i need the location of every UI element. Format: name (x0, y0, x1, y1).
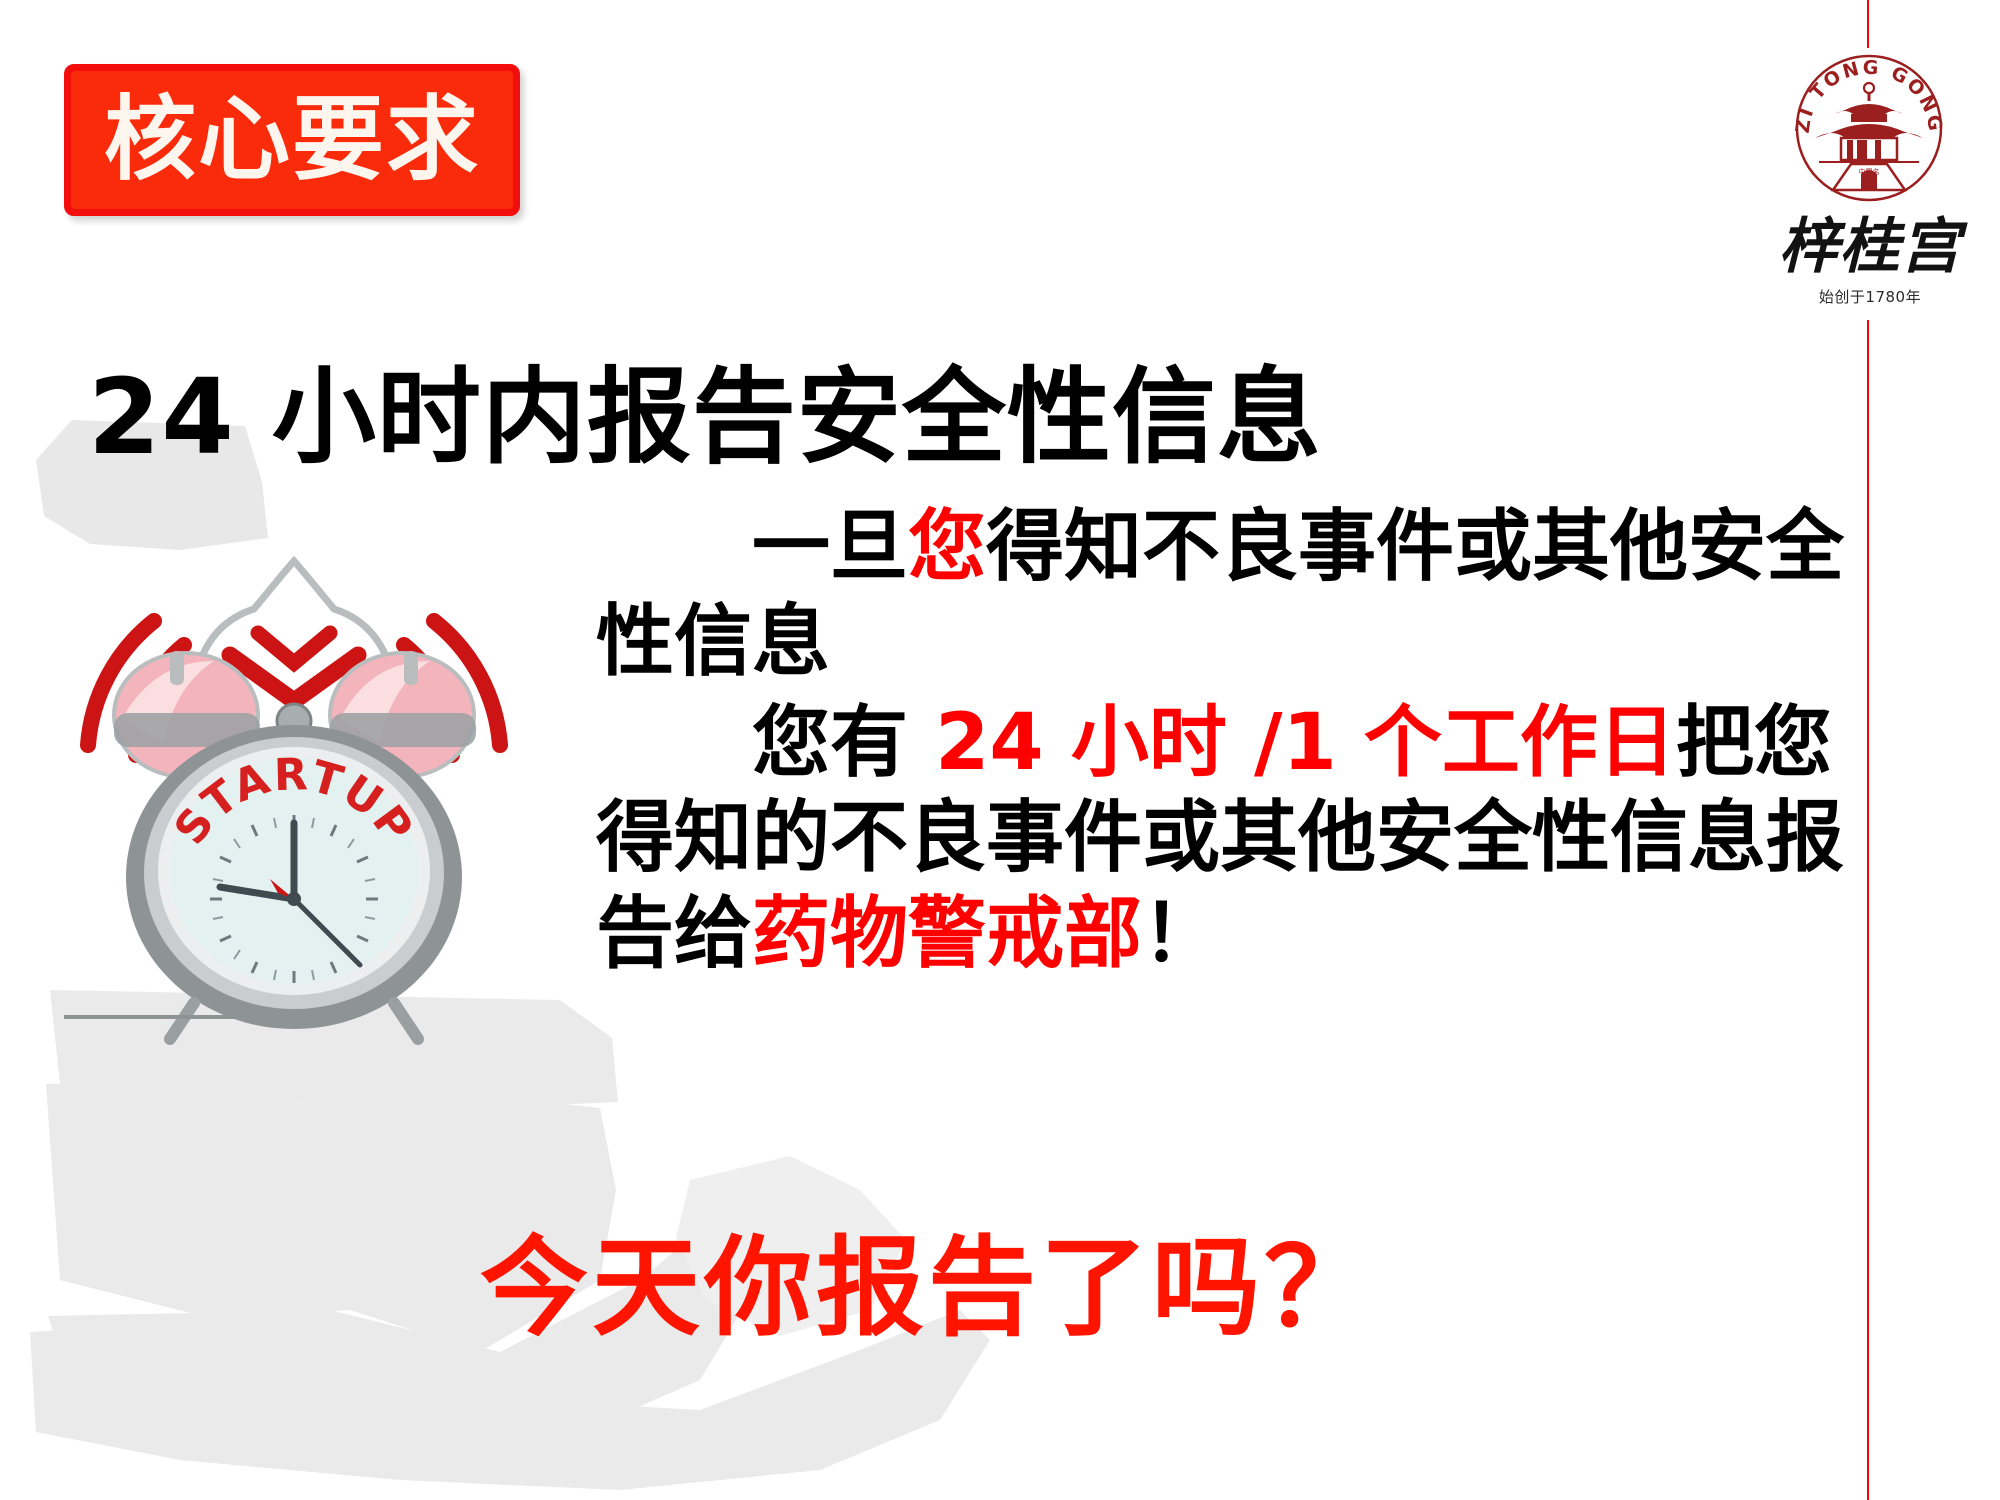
body-paragraph-2: 您有 24 小时 /1 个工作日把您得知的不良事件或其他安全性信息报告给药物警戒… (596, 696, 1856, 981)
page-title: 24 小时内报告安全性信息 (88, 360, 1488, 474)
seal-inner-label: 中国名 (1859, 167, 1880, 176)
body-copy: 一旦您得知不良事件或其他安全性信息 您有 24 小时 /1 个工作日把您得知的不… (596, 500, 1856, 982)
p1-highlight-you: 您 (908, 502, 986, 592)
right-vertical-rule-bottom (1867, 320, 1869, 1500)
alarm-clock-icon: STARTUP (44, 505, 544, 1045)
logo-wordmark: 梓桂宫 (1775, 210, 1965, 284)
closing-question: 今天你报告了吗？ (480, 1230, 1580, 1349)
logo-founded-year: 始创于1780年 (1775, 286, 1965, 307)
p1-seg1: 一旦 (752, 502, 908, 592)
p2-seg5: ！ (1142, 889, 1220, 979)
company-logo: ZI TONG GONG 中国名 梓桂宫 始创于1780年 (1775, 48, 1965, 316)
p2-seg1: 您有 (752, 698, 935, 788)
pagoda-seal-icon: ZI TONG GONG 中国名 (1789, 48, 1949, 208)
body-paragraph-1: 一旦您得知不良事件或其他安全性信息 (596, 500, 1856, 690)
section-title-label: 核心要求 (104, 94, 480, 186)
p2-highlight-department: 药物警戒部 (752, 889, 1142, 979)
right-vertical-rule-top (1867, 0, 1869, 48)
slide-canvas: 核心要求 ZI TONG GONG (0, 0, 2000, 1500)
section-title-badge: 核心要求 (64, 64, 520, 216)
p2-highlight-deadline: 24 小时 /1 个工作日 (935, 698, 1676, 788)
